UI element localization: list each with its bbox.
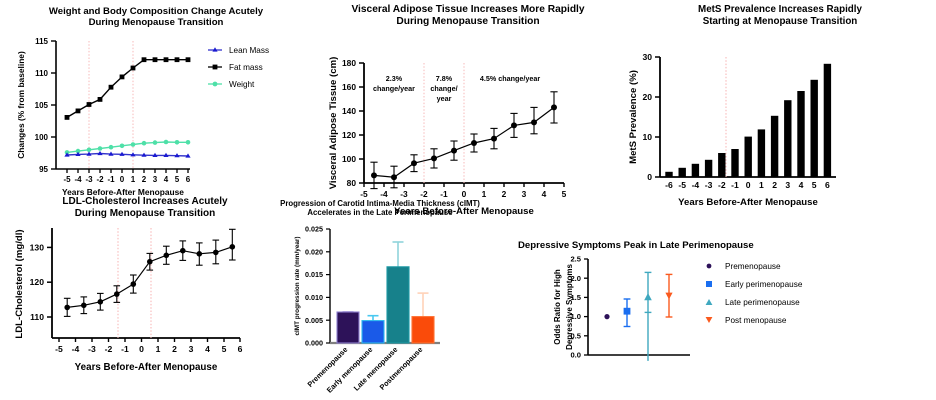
panel-title: Depressive Symptoms Peak in Late Perimen… xyxy=(500,236,936,251)
annotation-rate-1-line-1: 2.3% xyxy=(386,74,403,83)
x-tick-label: 2 xyxy=(172,344,177,354)
bar xyxy=(758,129,765,177)
y-axis-label: cIMT progression rate (mm/year) xyxy=(294,237,301,336)
y-tick-label: 105 xyxy=(35,101,49,110)
series-line-weight xyxy=(67,142,188,152)
error-bars xyxy=(64,229,236,316)
x-tick-label: 0 xyxy=(120,175,125,184)
y-tick-label: 120 xyxy=(30,277,45,287)
bar xyxy=(718,153,725,177)
x-tick-label: -1 xyxy=(121,344,129,354)
y-tick-label: 10 xyxy=(642,132,652,142)
x-tick-label: 3 xyxy=(189,344,194,354)
bar-early-menopause xyxy=(362,321,384,343)
x-tick-label: 0 xyxy=(746,180,751,190)
y-tick-group: 80 100 120 140 160 180 xyxy=(342,58,364,188)
panel-title-line-2: During Menopause Transition xyxy=(312,16,624,28)
x-tick-label: -3 xyxy=(705,180,713,190)
bar xyxy=(797,91,804,177)
x-tick-label: 5 xyxy=(812,180,817,190)
x-tick-label: 6 xyxy=(825,180,830,190)
x-tick-label: 4 xyxy=(205,344,210,354)
y-tick-label: 95 xyxy=(39,165,48,174)
y-tick-label: 180 xyxy=(342,58,356,68)
annotation-rate-1-line-2: change/year xyxy=(373,84,415,93)
bar-late-menopause xyxy=(387,267,409,343)
bar xyxy=(731,149,738,177)
point-premenopause xyxy=(604,314,609,319)
x-tick-label: -3 xyxy=(88,344,96,354)
x-tick-group: -6 -5 -4 -3 -2 -1 0 1 2 3 4 5 6 xyxy=(665,180,830,190)
x-tick-label: 2 xyxy=(772,180,777,190)
bar xyxy=(705,160,712,177)
legend-item-late-perimenopause[interactable]: Late perimenopause xyxy=(706,298,800,307)
y-tick-label: 0.015 xyxy=(305,271,323,280)
panel-title-line-1: Progression of Carotid Intima-Media Thic… xyxy=(255,199,505,208)
bar-postmenopause xyxy=(412,317,434,343)
panel-cimt-progression: Progression of Carotid Intima-Media Thic… xyxy=(255,196,505,400)
bar xyxy=(692,164,699,177)
y-tick-label: 0.0 xyxy=(570,351,581,360)
bar xyxy=(679,168,686,177)
bar xyxy=(771,116,778,177)
chart-visceral-adipose-tissue: 80 100 120 140 160 180 -5 -4 -3 -2 -1 xyxy=(312,28,624,188)
x-tick-label: 5 xyxy=(562,189,567,199)
y-tick-label: 100 xyxy=(342,154,356,164)
bar-premenopause xyxy=(337,312,359,343)
chart-mets-prevalence: 0 10 20 30 -6 -5 -4 xyxy=(624,27,936,187)
annotation-rate-2-line-1: 7.8% xyxy=(436,74,453,83)
panel-title-line-2: Accelerates in the Late Perimenopause xyxy=(255,208,505,217)
panel-title-line-2: During Menopause Transition xyxy=(0,208,290,220)
x-tick-label: -2 xyxy=(105,344,113,354)
legend-label: Lean Mass xyxy=(229,46,269,55)
x-tick-label: -2 xyxy=(718,180,726,190)
panel-visceral-adipose-tissue: Visceral Adipose Tissue Increases More R… xyxy=(312,0,624,196)
legend-item-weight[interactable]: Weight xyxy=(208,80,255,89)
series-markers-fat-mass xyxy=(65,57,191,120)
x-tick-label: 0 xyxy=(139,344,144,354)
x-tick-label: -4 xyxy=(74,175,82,184)
x-tick-label: 5 xyxy=(175,175,180,184)
chart-depressive-symptoms: 0.0 0.5 1.0 1.5 2.0 2.5 xyxy=(500,251,936,391)
y-tick-label: 2.5 xyxy=(570,255,581,264)
y-axis-label: Changes (% from baseline) xyxy=(16,51,26,159)
panel-title-line-1: MetS Prevalence Increases Rapidly xyxy=(624,4,936,16)
y-tick-label: 130 xyxy=(30,242,45,252)
panel-title-line-1: Visceral Adipose Tissue Increases More R… xyxy=(312,4,624,16)
annotation-group: 2.3% change/year 7.8% change/ year 4.5% … xyxy=(373,74,540,103)
legend-label: Fat mass xyxy=(229,63,263,72)
panel-title: LDL-Cholesterol Increases Acutely During… xyxy=(0,192,290,220)
x-tick-label: 4 xyxy=(799,180,804,190)
x-tick-group: -5 -4 -3 -2 -1 0 1 2 3 4 5 6 xyxy=(63,169,190,184)
y-tick-label: 30 xyxy=(642,52,652,62)
x-tick-group: Premenopause Early menopause Late menopa… xyxy=(306,345,425,395)
x-tick-label: -3 xyxy=(85,175,93,184)
y-tick-label: 140 xyxy=(342,106,356,116)
x-tick-label: -1 xyxy=(731,180,739,190)
panel-title: MetS Prevalence Increases Rapidly Starti… xyxy=(624,0,936,27)
y-axis-label: Visceral Adipose Tissue (cm) xyxy=(328,57,339,190)
chart-legend: Premenopause Early perimenopause Late pe… xyxy=(706,262,803,325)
x-tick-label: 3 xyxy=(522,189,527,199)
x-tick-label: -5 xyxy=(678,180,686,190)
panel-title-line-1: Depressive Symptoms Peak in Late Perimen… xyxy=(518,240,936,251)
point-post-menopause xyxy=(665,275,672,318)
x-axis-label: Years Before-After Menopause xyxy=(678,197,818,208)
chart-cimt-progression: 0.000 0.005 0.010 0.015 0.020 0.025 xyxy=(255,217,505,392)
legend-item-post-menopause[interactable]: Post menopause xyxy=(706,316,787,325)
y-tick-label: 100 xyxy=(35,133,49,142)
y-tick-label: 0.025 xyxy=(305,225,323,234)
bar xyxy=(665,172,672,177)
x-tick-label: -1 xyxy=(107,175,115,184)
y-axis-label-line-2: Depressive Symptoms xyxy=(565,264,574,350)
panel-title-line-2: Starting at Menopause Transition xyxy=(624,16,936,28)
x-tick-label: -5 xyxy=(55,344,63,354)
y-tick-group: 0 10 20 30 xyxy=(642,52,660,182)
y-tick-label: 160 xyxy=(342,82,356,92)
x-tick-label: 2 xyxy=(142,175,147,184)
panel-title: Progression of Carotid Intima-Media Thic… xyxy=(255,196,505,217)
bar-group xyxy=(337,267,434,343)
x-tick-label: 5 xyxy=(222,344,227,354)
x-tick-label: 4 xyxy=(164,175,169,184)
panel-depressive-symptoms: Depressive Symptoms Peak in Late Perimen… xyxy=(500,236,936,400)
panel-ldl-cholesterol: LDL-Cholesterol Increases Acutely During… xyxy=(0,192,290,400)
y-tick-group: 95 100 105 110 115 xyxy=(35,37,56,174)
chart-legend: Lean Mass Fat mass Weight xyxy=(208,46,269,89)
bar xyxy=(824,64,831,177)
x-axis-label: Years Before-After Menopause xyxy=(75,362,218,373)
y-tick-label: 0.020 xyxy=(305,248,323,257)
panel-title-line-1: LDL-Cholesterol Increases Acutely xyxy=(0,196,290,208)
x-tick-label: 1 xyxy=(156,344,161,354)
annotation-rate-3: 4.5% change/year xyxy=(480,74,541,83)
legend-item-lean-mass[interactable]: Lean Mass xyxy=(208,46,269,55)
y-axis-label: LDL-Cholesterol (mg/dl) xyxy=(14,229,25,338)
legend-label: Late perimenopause xyxy=(725,298,800,307)
annotation-rate-2-line-3: year xyxy=(437,94,452,103)
chart-ldl-cholesterol: 110 120 130 -5 -4 -3 -2 -1 0 1 2 3 xyxy=(0,220,290,390)
y-axis-label-line-1: Odds Ratio for High xyxy=(553,269,562,345)
legend-label: Weight xyxy=(229,80,255,89)
x-tick-label: 1 xyxy=(131,175,136,184)
x-tick-label: 6 xyxy=(238,344,243,354)
panel-title: Visceral Adipose Tissue Increases More R… xyxy=(312,0,624,28)
legend-item-premenopause[interactable]: Premenopause xyxy=(707,262,781,271)
y-tick-label: 0.005 xyxy=(305,316,323,325)
y-tick-label: 0.000 xyxy=(305,339,323,348)
x-tick-label: Late menopause xyxy=(352,345,400,393)
x-tick-label: -5 xyxy=(63,175,71,184)
y-tick-label: 80 xyxy=(347,178,357,188)
y-tick-label: 20 xyxy=(642,92,652,102)
x-tick-label: 3 xyxy=(153,175,158,184)
series-line-lean-mass xyxy=(67,153,188,156)
chart-weight-body-composition: 95 100 105 110 115 -5 -4 -3 -2 -1 0 xyxy=(0,29,312,189)
legend-item-fat-mass[interactable]: Fat mass xyxy=(208,63,263,72)
panel-title: Weight and Body Composition Change Acute… xyxy=(0,0,312,29)
series-line-fat-mass xyxy=(67,59,188,117)
annotation-rate-2-line-2: change/ xyxy=(430,84,457,93)
panel-title-line-2: During Menopause Transition xyxy=(0,17,312,28)
y-tick-label: 110 xyxy=(30,312,44,322)
x-tick-label: 6 xyxy=(186,175,191,184)
x-tick-label: 4 xyxy=(542,189,547,199)
x-tick-group: -5 -4 -3 -2 -1 0 1 2 3 4 5 6 xyxy=(55,338,242,354)
bar-group xyxy=(665,64,831,177)
bar xyxy=(811,80,818,177)
legend-item-early-perimenopause[interactable]: Early perimenopause xyxy=(706,280,803,289)
bar xyxy=(745,137,752,177)
y-tick-label: 0 xyxy=(647,172,652,182)
y-tick-label: 110 xyxy=(35,69,48,78)
panel-mets-prevalence: MetS Prevalence Increases Rapidly Starti… xyxy=(624,0,936,196)
legend-label: Premenopause xyxy=(725,262,781,271)
panel-title-line-1: Weight and Body Composition Change Acute… xyxy=(0,6,312,17)
point-late-perimenopause xyxy=(644,273,652,362)
x-tick-label: -6 xyxy=(665,180,673,190)
bar xyxy=(784,100,791,177)
point-early-perimenopause xyxy=(624,299,631,327)
x-tick-label: -4 xyxy=(692,180,700,190)
y-tick-label: 0.010 xyxy=(305,293,323,302)
x-tick-label: -2 xyxy=(96,175,104,184)
x-tick-label: 3 xyxy=(785,180,790,190)
panel-weight-body-composition: Weight and Body Composition Change Acute… xyxy=(0,0,312,196)
y-tick-label: 115 xyxy=(35,37,48,46)
x-tick-label: 1 xyxy=(759,180,764,190)
legend-label: Post menopause xyxy=(725,316,787,325)
y-tick-group: 0.000 0.005 0.010 0.015 0.020 0.025 xyxy=(305,225,330,348)
x-tick-label: -4 xyxy=(72,344,80,354)
y-axis-label: MetS Prevalence (%) xyxy=(628,70,639,164)
y-tick-label: 120 xyxy=(342,130,356,140)
y-tick-group: 110 120 130 xyxy=(30,242,52,322)
legend-label: Early perimenopause xyxy=(725,280,803,289)
